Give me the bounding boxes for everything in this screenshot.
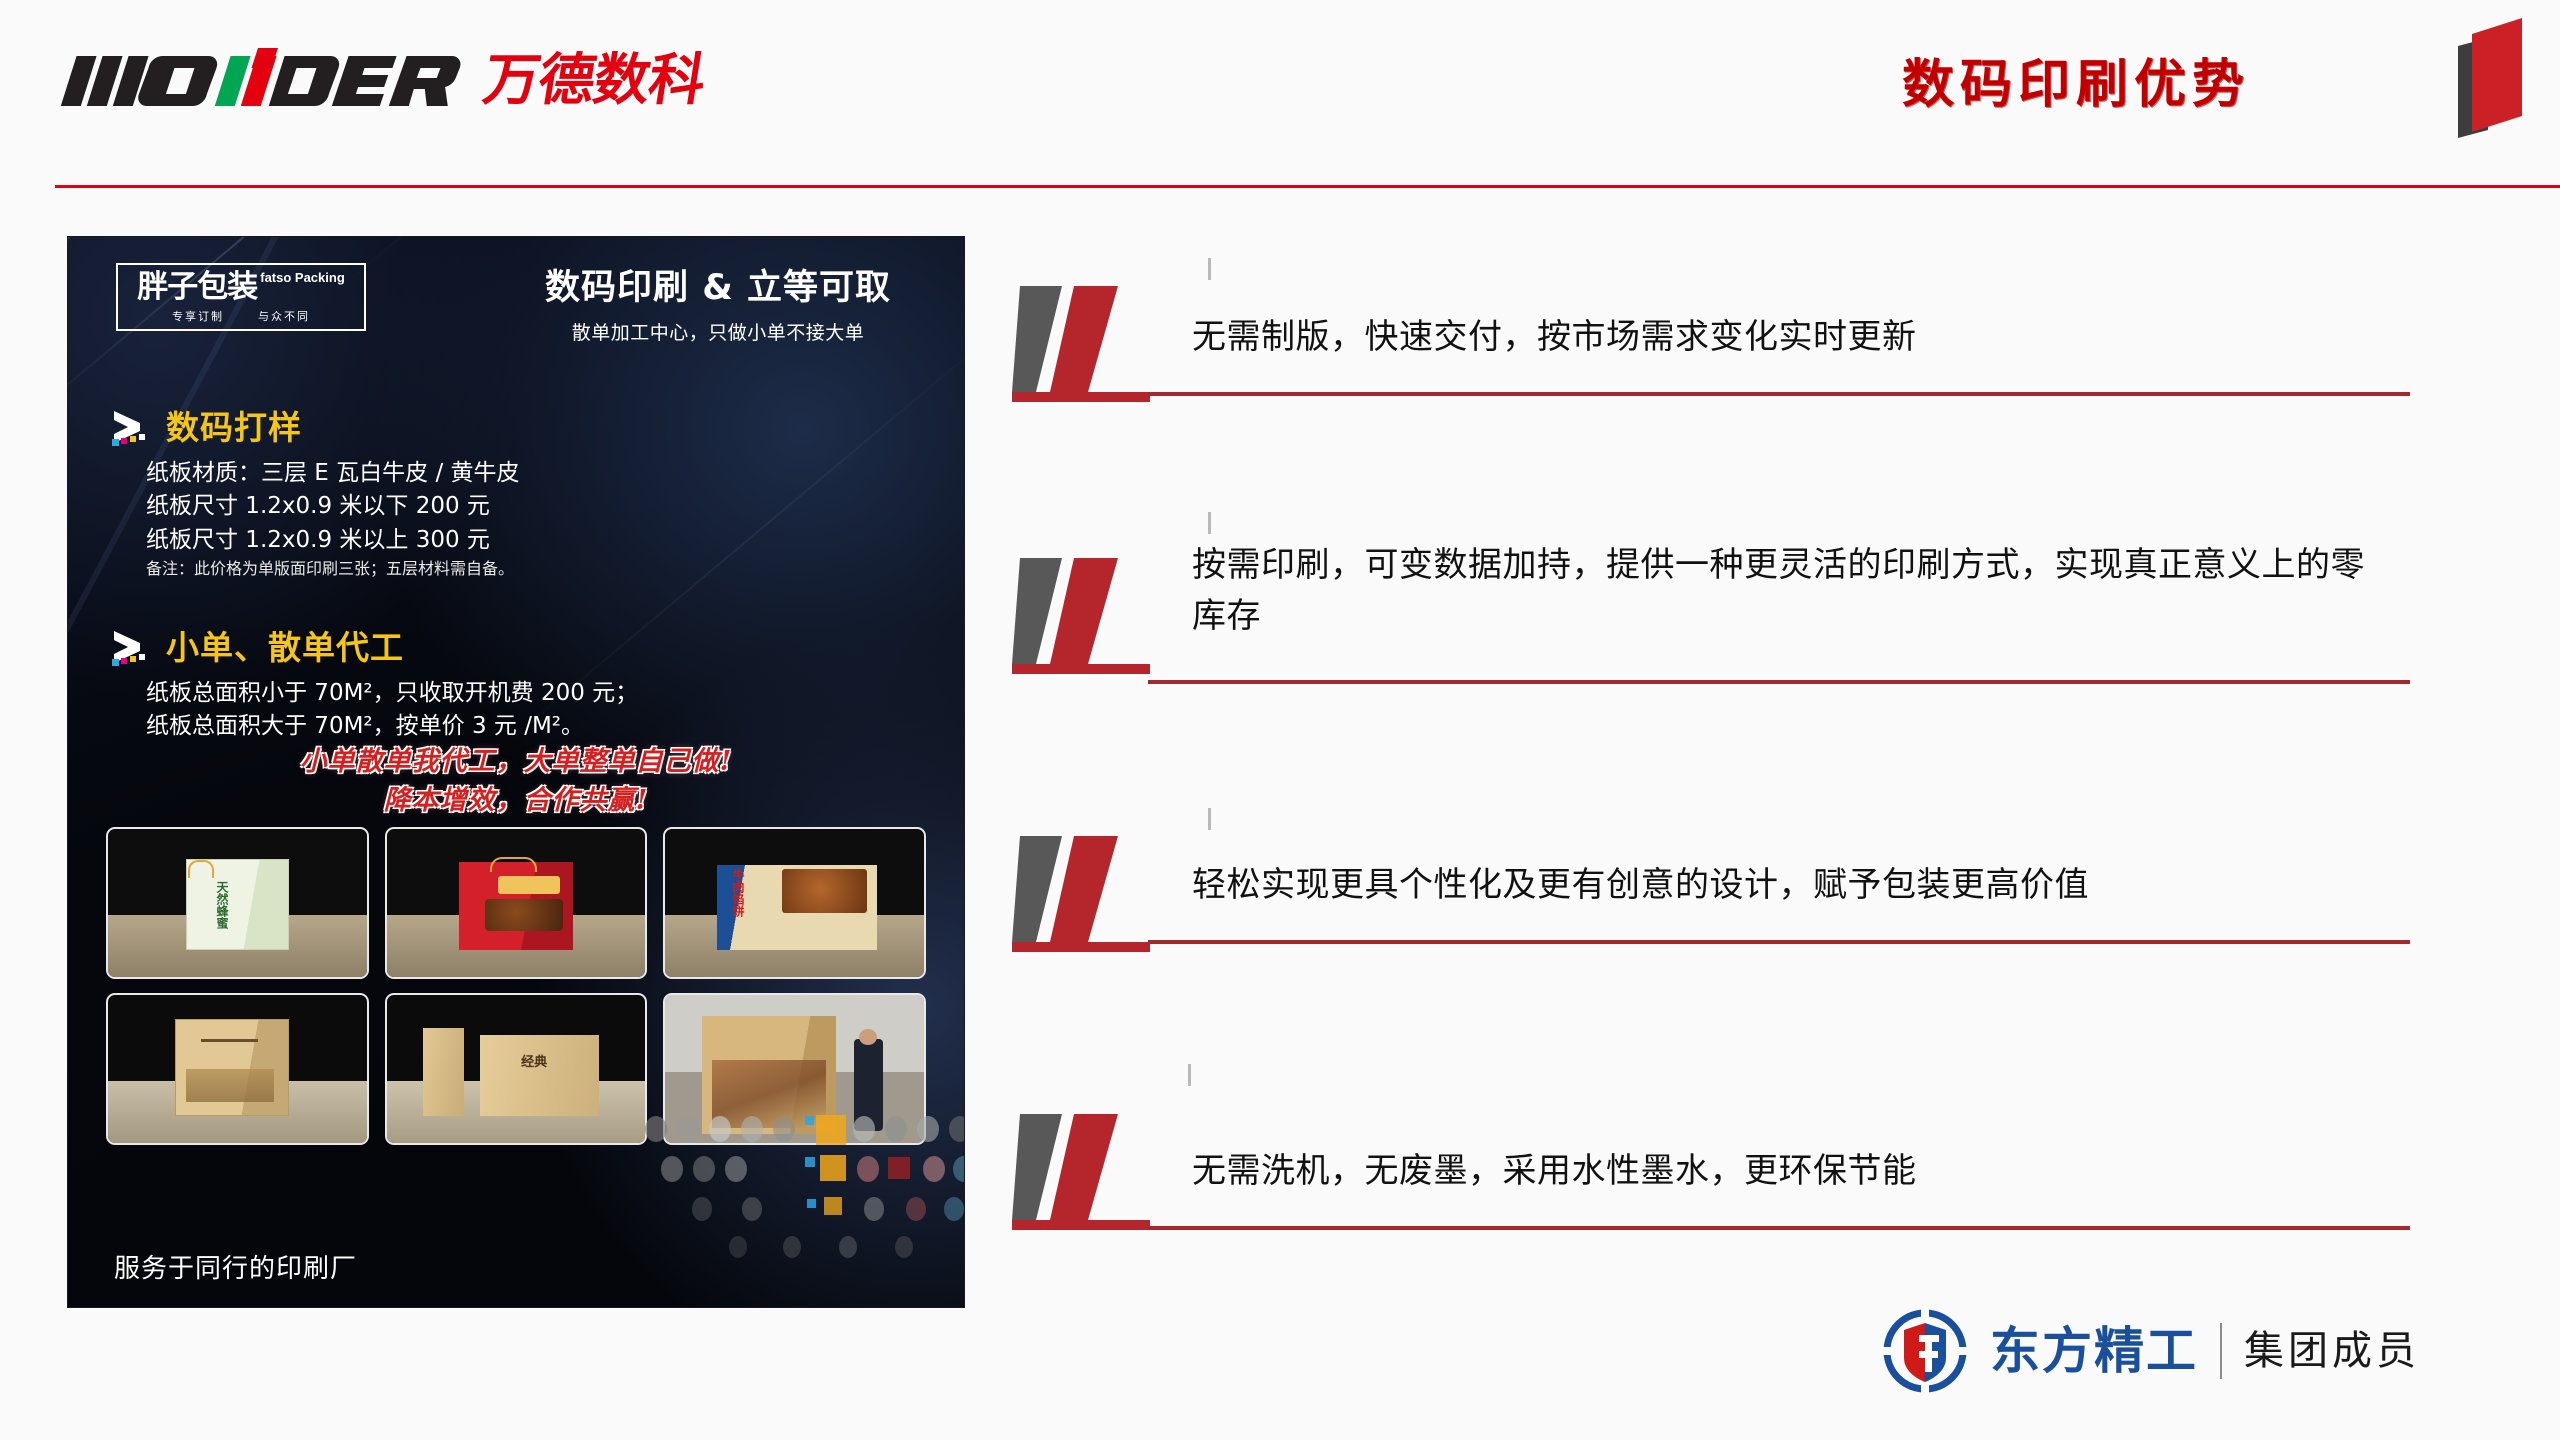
double-chevron-bullet-icon — [1010, 552, 1150, 682]
section-line: 纸板尺寸 1.2x0.9 米以上 300 元 — [146, 524, 520, 557]
footer-divider — [2220, 1323, 2222, 1379]
advantage-text: 轻松实现更具个性化及更有创意的设计，赋予包装更高价值 — [1192, 860, 2372, 911]
section-line: 纸板材质：三层 E 瓦白牛皮 / 黄牛皮 — [146, 457, 520, 490]
advantage-text: 无需制版，快速交付，按市场需求变化实时更新 — [1192, 312, 2372, 363]
wonder-brand-cn: 万德数科 — [480, 53, 709, 109]
poster-headline-block: 数码印刷 & 立等可取 散单加工中心，只做小单不接大单 — [498, 259, 938, 345]
section-note: 备注：此价格为单版面印刷三张；五层材料需自备。 — [146, 557, 520, 581]
chevron-arrow-icon — [110, 627, 156, 667]
footer-company-name: 东方精工 — [1990, 1326, 2198, 1376]
fatso-logo-taglines: 专享订制 与众不同 — [172, 308, 310, 324]
slide-header: 万德数科 数码印刷优势 — [0, 0, 2560, 190]
double-chevron-bullet-icon — [1010, 1108, 1150, 1238]
page-title: 数码印刷优势 — [1902, 42, 2250, 117]
fatso-logo-cn: 胖子包装 — [137, 272, 257, 303]
double-chevron-bullet-icon — [1010, 280, 1150, 410]
fatso-tagline-left: 专享订制 — [172, 308, 224, 324]
product-photo — [385, 827, 648, 979]
tick-mark — [1208, 808, 1211, 830]
double-chevron-bullet-icon — [1010, 830, 1150, 960]
product-photo — [106, 993, 369, 1145]
section-title: 小单、散单代工 — [166, 631, 404, 664]
header-divider — [55, 185, 2560, 188]
section-header: 数码打样 — [110, 407, 520, 447]
dongfang-jingong-mark-icon — [1882, 1308, 1968, 1394]
advantage-underline — [1148, 1226, 2410, 1230]
poster-footer-text: 服务于同行的印刷厂 — [114, 1248, 357, 1285]
chevron-arrow-icon — [110, 407, 156, 447]
section-line: 纸板尺寸 1.2x0.9 米以下 200 元 — [146, 490, 520, 523]
poster-header: 胖子包装 fatso Packing 专享订制 与众不同 数码印刷 & 立等可取… — [68, 237, 964, 355]
product-photo: 经典 — [385, 993, 648, 1145]
footer-group-logo: 东方精工 集团成员 — [1882, 1308, 2420, 1394]
advantage-underline — [1148, 680, 2410, 684]
tick-mark — [1208, 512, 1211, 534]
advantage-text: 按需印刷，可变数据加持，提供一种更灵活的印刷方式，实现真正意义上的零库存 — [1192, 540, 2372, 642]
section-line: 纸板总面积小于 70M²，只收取开机费 200 元； — [146, 677, 638, 710]
fatso-packing-logo: 胖子包装 fatso Packing 专享订制 与众不同 — [116, 263, 366, 331]
tick-mark — [1208, 258, 1211, 280]
product-photo: 天然蜂蜜 — [106, 827, 369, 979]
advantage-underline — [1148, 392, 2410, 396]
slogan-line-2: 降本增效，合作共赢! — [68, 781, 964, 820]
corner-book-mark-icon — [2430, 8, 2530, 138]
section-header: 小单、散单代工 — [110, 627, 638, 667]
footer-member-label: 集团成员 — [2244, 1331, 2420, 1371]
product-photo-grid: 天然蜂蜜 牛肉馅饼 经典 — [106, 827, 926, 1145]
section-body: 纸板材质：三层 E 瓦白牛皮 / 黄牛皮 纸板尺寸 1.2x0.9 米以下 20… — [146, 457, 520, 581]
advantage-underline — [1148, 940, 2410, 944]
promo-poster: 胖子包装 fatso Packing 专享订制 与众不同 数码印刷 & 立等可取… — [68, 237, 964, 1307]
wonder-logo: 万德数科 — [60, 50, 704, 112]
fatso-tagline-right: 与众不同 — [258, 308, 310, 324]
poster-subtitle: 散单加工中心，只做小单不接大单 — [498, 318, 938, 345]
poster-title: 数码印刷 & 立等可取 — [498, 259, 938, 310]
product-photo: 牛肉馅饼 — [663, 827, 926, 979]
decorative-dots-pattern — [642, 1113, 964, 1283]
slogan-line-1: 小单散单我代工，大单整单自己做! — [68, 742, 964, 781]
poster-slogan: 小单散单我代工，大单整单自己做! 降本增效，合作共赢! — [68, 742, 964, 820]
section-title: 数码打样 — [166, 411, 302, 444]
tick-mark — [1188, 1064, 1191, 1086]
fatso-logo-row: 胖子包装 fatso Packing — [137, 271, 345, 303]
advantage-text: 无需洗机，无废墨，采用水性墨水，更环保节能 — [1192, 1146, 2372, 1197]
section-line: 纸板总面积大于 70M²，按单价 3 元 /M²。 — [146, 710, 638, 743]
fatso-logo-en: fatso Packing — [260, 271, 345, 284]
wonder-wordmark-svg — [60, 48, 480, 114]
section-body: 纸板总面积小于 70M²，只收取开机费 200 元； 纸板总面积大于 70M²，… — [146, 677, 638, 744]
poster-section-digital-proofing: 数码打样 纸板材质：三层 E 瓦白牛皮 / 黄牛皮 纸板尺寸 1.2x0.9 米… — [110, 407, 520, 581]
poster-section-small-batch: 小单、散单代工 纸板总面积小于 70M²，只收取开机费 200 元； 纸板总面积… — [110, 627, 638, 744]
